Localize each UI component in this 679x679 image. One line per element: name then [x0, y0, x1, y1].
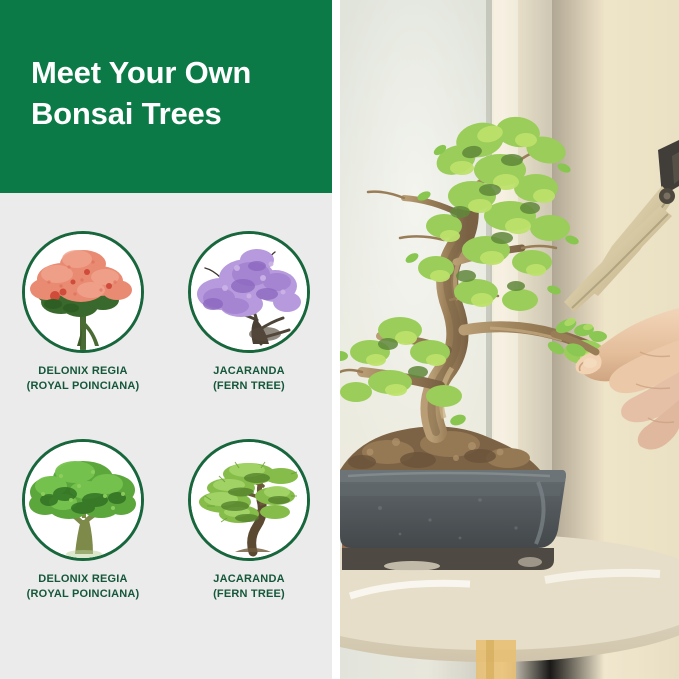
tree-thumbnail — [188, 439, 310, 561]
flowering-tree-red-icon — [25, 234, 141, 350]
tree-name: JACARANDA — [213, 365, 284, 377]
broadleaf-tree-green-icon — [25, 442, 141, 558]
page-title-line2: Bonsai Trees — [31, 93, 316, 134]
tree-card[interactable]: DELONIX REGIA (ROYAL POINCIANA) — [0, 439, 166, 602]
tree-card-label: DELONIX REGIA (ROYAL POINCIANA) — [0, 364, 166, 394]
page-title-line1: Meet Your Own — [31, 55, 251, 90]
tree-name: DELONIX REGIA — [38, 573, 127, 585]
tree-thumbnail — [188, 231, 310, 353]
tree-card-label: JACARANDA (FERN TREE) — [166, 364, 332, 394]
page-title: Meet Your Own Bonsai Trees — [31, 52, 316, 134]
tree-card-label: DELONIX REGIA (ROYAL POINCIANA) — [0, 572, 166, 602]
tree-name: JACARANDA — [213, 573, 284, 585]
tree-thumbnail — [22, 439, 144, 561]
bonsai-photo-illustration — [340, 0, 679, 679]
tree-common-name: (ROYAL POINCIANA) — [0, 379, 166, 394]
tree-card[interactable]: JACARANDA (FERN TREE) — [166, 231, 332, 394]
panel-divider — [332, 0, 340, 679]
bonsai-photo — [340, 0, 679, 679]
header-banner: Meet Your Own Bonsai Trees — [0, 0, 332, 193]
tree-common-name: (FERN TREE) — [166, 587, 332, 602]
tree-card-grid: DELONIX REGIA (ROYAL POINCIANA) — [0, 193, 332, 679]
flowering-tree-purple-icon — [191, 234, 307, 350]
tree-common-name: (FERN TREE) — [166, 379, 332, 394]
tree-card-label: JACARANDA (FERN TREE) — [166, 572, 332, 602]
tree-name: DELONIX REGIA — [38, 365, 127, 377]
tree-card[interactable]: DELONIX REGIA (ROYAL POINCIANA) — [0, 231, 166, 394]
bonsai-infographic-page: Meet Your Own Bonsai Trees — [0, 0, 679, 679]
left-panel: Meet Your Own Bonsai Trees — [0, 0, 332, 679]
tree-card[interactable]: JACARANDA (FERN TREE) — [166, 439, 332, 602]
tree-thumbnail — [22, 231, 144, 353]
pine-bonsai-green-icon — [191, 442, 307, 558]
tree-common-name: (ROYAL POINCIANA) — [0, 587, 166, 602]
